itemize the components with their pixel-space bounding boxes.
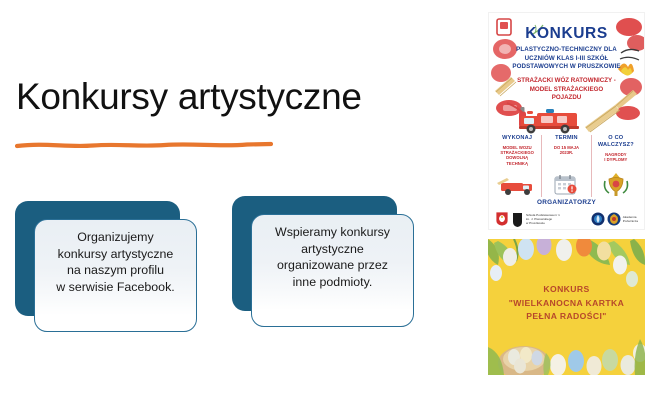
- fire-truck-illustration: [489, 97, 644, 135]
- column-body: MODEL WOZU STRAŻACKIEGO DOWOLNĄ TECHNIKĄ: [495, 145, 539, 167]
- card-body: Organizujemy konkursy artystyczne na nas…: [34, 219, 197, 332]
- trophy-emblem-icon: [599, 171, 633, 197]
- info-card-external[interactable]: Wspieramy konkursy artystyczne organizow…: [232, 196, 416, 329]
- organizer-caption: Szkoła Podstawowa nr 1 im. J. Piwowskieg…: [526, 213, 560, 225]
- school-crest-icon: [511, 211, 524, 227]
- poster-info-columns: WYKONAJ MODEL WOZU STRAŻACKIEGO DOWOLNĄ …: [493, 135, 640, 197]
- poster-column-wykonaj: WYKONAJ MODEL WOZU STRAŻACKIEGO DOWOLNĄ …: [493, 135, 541, 197]
- info-card-facebook[interactable]: Organizujemy konkursy artystyczne na nas…: [15, 201, 199, 334]
- card-body: Wspieramy konkursy artystyczne organizow…: [251, 214, 414, 327]
- poster-column-nagrody: O CO WALCZYSZ? NAGRODY I DYPLOMY: [591, 135, 640, 197]
- calendar-icon: [550, 173, 582, 197]
- globe-badge-icon: [591, 212, 605, 226]
- title-underline-decoration: [15, 140, 273, 150]
- page-title: Konkursy artystyczne: [16, 76, 362, 118]
- column-body: DO 15 MAJA 2023R.: [544, 145, 588, 156]
- column-heading: WYKONAJ: [495, 135, 539, 142]
- poster-artwork: KONKURS PLASTYCZNO-TECHNICZNY DLA UCZNIÓ…: [489, 13, 644, 229]
- polish-eagle-icon: [495, 211, 509, 227]
- column-truck-icon: [493, 175, 541, 197]
- column-body: NAGRODY I DYPLOMY: [594, 152, 638, 163]
- column-heading: O CO WALCZYSZ?: [594, 135, 638, 149]
- easter-contest-title: KONKURS "WIELKANOCNA KARTKA PEŁNA RADOŚC…: [488, 283, 645, 324]
- poster-headline: KONKURS: [489, 26, 644, 42]
- organizers-row: Szkoła Podstawowa nr 1 im. J. Piwowskieg…: [495, 209, 638, 229]
- organizers-heading: ORGANIZATORZY: [489, 199, 644, 206]
- poster-headline-block: KONKURS PLASTYCZNO-TECHNICZNY DLA UCZNIÓ…: [489, 26, 644, 103]
- card-text: Wspieramy konkursy artystyczne organizow…: [275, 224, 390, 290]
- academy-badge-icon: [607, 212, 621, 226]
- organizer-emblem-academy: Akademia Pożarnicza: [591, 212, 638, 226]
- poster-image-firefighter-contest[interactable]: KONKURS PLASTYCZNO-TECHNICZNY DLA UCZNIÓ…: [488, 12, 645, 230]
- card-text: Organizujemy konkursy artystyczne na nas…: [56, 229, 174, 295]
- poster-column-termin: TERMIN DO 15 MAJA 2023R.: [541, 135, 590, 197]
- poster-subtitle-blue: PLASTYCZNO-TECHNICZNY DLA UCZNIÓW KLAS I…: [489, 46, 644, 72]
- slide-canvas: Konkursy artystyczne Organizujemy konkur…: [0, 0, 655, 409]
- organizer-caption: Akademia Pożarnicza: [623, 215, 638, 223]
- organizer-emblem-poland: Szkoła Podstawowa nr 1 im. J. Piwowskieg…: [495, 211, 560, 227]
- column-heading: TERMIN: [544, 135, 588, 142]
- easter-contest-image[interactable]: KONKURS "WIELKANOCNA KARTKA PEŁNA RADOŚC…: [488, 239, 645, 375]
